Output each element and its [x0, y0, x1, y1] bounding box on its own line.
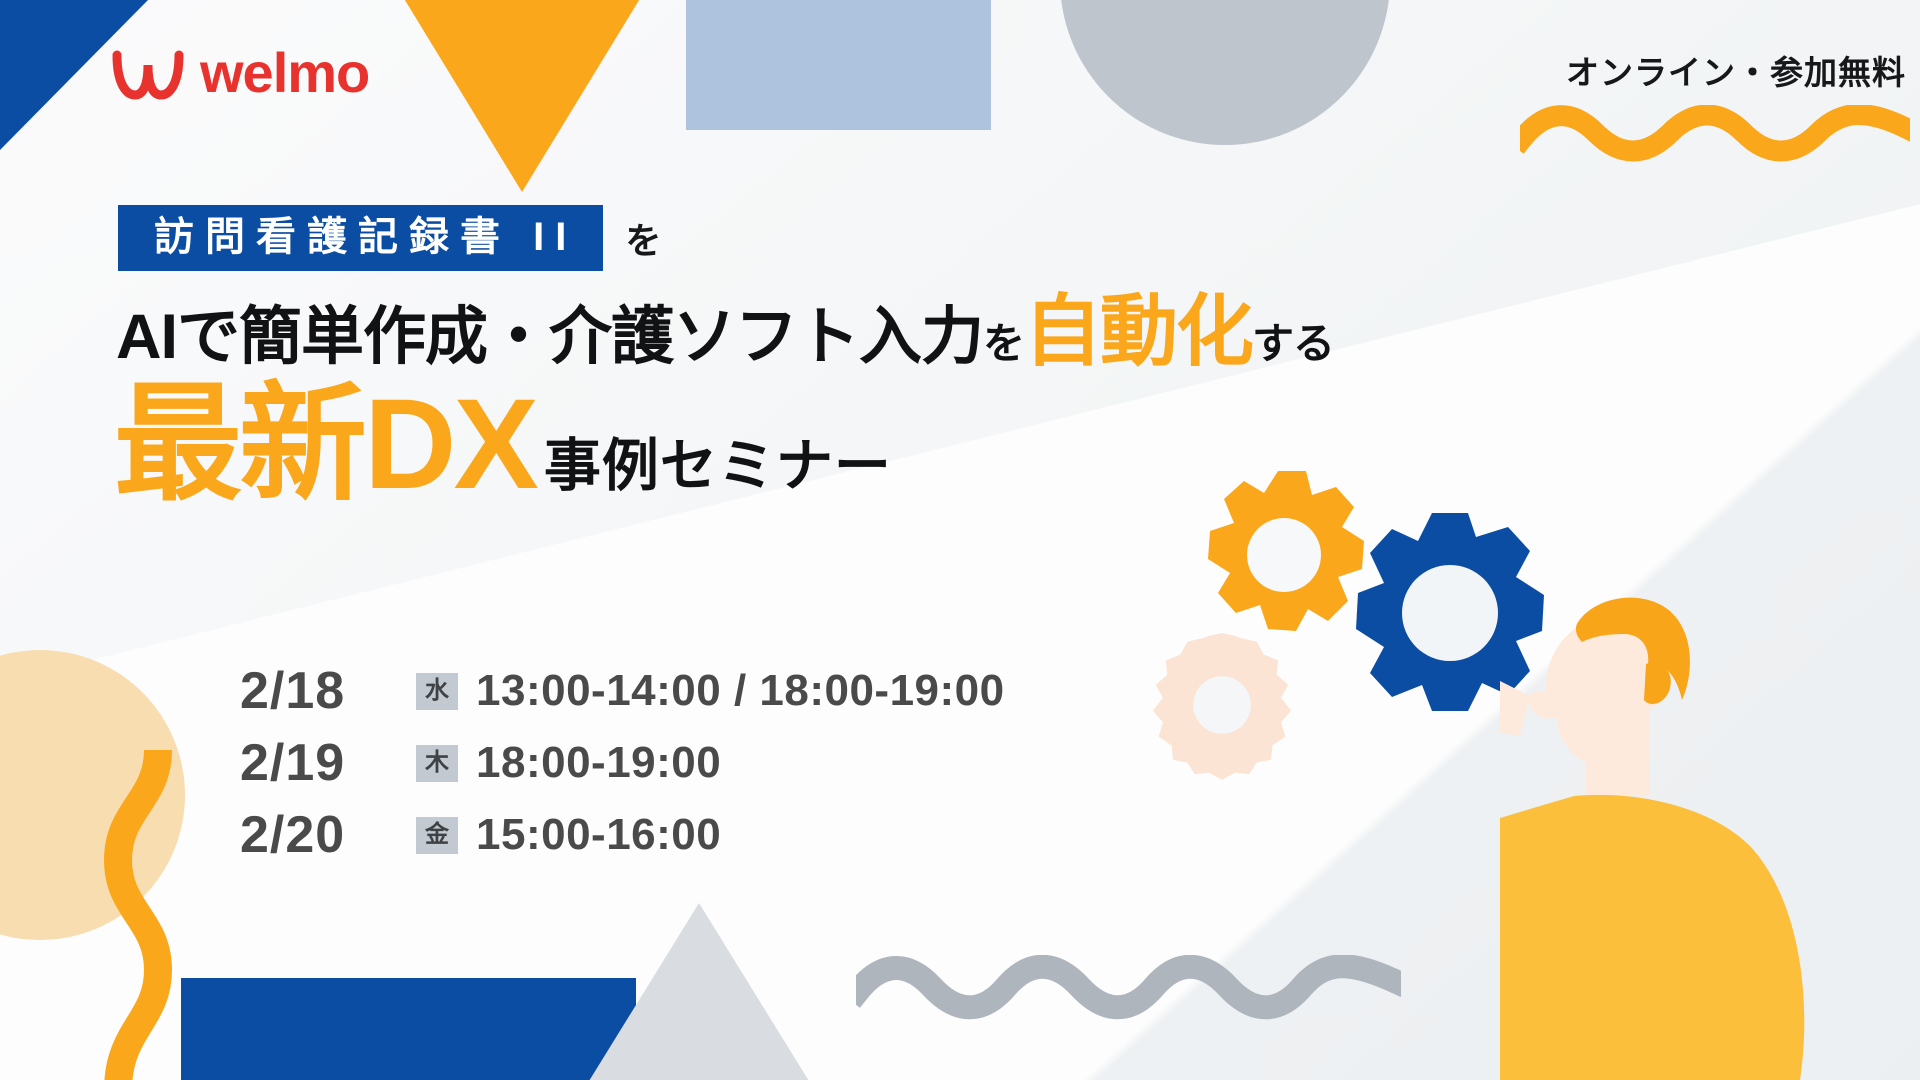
person-hand [1500, 665, 1530, 736]
schedule-date: 2/19 [240, 733, 400, 793]
triangle-orange-down-shape [400, 0, 644, 192]
schedule-day-of-week: 水 [416, 673, 458, 710]
schedule-time: 13:00-14:00 / 18:00-19:00 [476, 666, 1005, 716]
person-illustration [1500, 560, 1920, 1080]
headline-particle: を [619, 212, 661, 264]
headline-line-1: 訪問看護記録書 II を [118, 205, 1518, 271]
headline-main-text: で簡単作成・介護ソフト入力 [177, 302, 983, 372]
headline-suru-text: する [1252, 320, 1334, 367]
circle-gray-shape [1060, 0, 1390, 145]
welmo-w-mark-icon [110, 45, 186, 101]
wave-orange-vertical-icon [100, 750, 220, 1080]
schedule-row: 2/19 木 18:00-19:00 [240, 727, 1005, 799]
headline-ai-text: AI [116, 302, 177, 372]
schedule-date: 2/18 [240, 661, 400, 721]
wave-gray-icon [856, 955, 1401, 1045]
schedule-time: 18:00-19:00 [476, 738, 721, 788]
record-book-tag: 訪問看護記録書 II [118, 205, 603, 271]
schedule-list: 2/18 水 13:00-14:00 / 18:00-19:00 2/19 木 … [240, 655, 1005, 871]
brand-logo: welmo [110, 45, 369, 101]
headline-dx-accent: 最新DX [114, 381, 536, 509]
schedule-day-of-week: 金 [416, 817, 458, 854]
schedule-day-of-week: 木 [416, 745, 458, 782]
schedule-time: 15:00-16:00 [476, 810, 721, 860]
headline-line-2: AIで簡単作成・介護ソフト入力を自動化する [116, 285, 1518, 377]
schedule-date: 2/20 [240, 805, 400, 865]
wave-orange-icon [1520, 105, 1910, 163]
schedule-row: 2/18 水 13:00-14:00 / 18:00-19:00 [240, 655, 1005, 727]
online-free-note: オンライン・参加無料 [1566, 46, 1906, 94]
headline-automation-accent: 自動化 [1024, 287, 1252, 375]
headline-particle-2: を [983, 320, 1024, 367]
brand-logo-wordmark: welmo [200, 45, 369, 101]
triangle-gray-shape [589, 903, 809, 1080]
seminar-banner: welmo オンライン・参加無料 訪問看護記録書 II を AIで簡単作成・介護… [0, 0, 1920, 1080]
schedule-row: 2/20 金 15:00-16:00 [240, 799, 1005, 871]
square-light-blue-shape [686, 0, 991, 130]
gear-peach-icon [1153, 633, 1291, 780]
headline-seminar-label: 事例セミナー [536, 438, 892, 509]
square-blue-shape [181, 978, 636, 1080]
gear-orange-icon [1208, 471, 1364, 631]
